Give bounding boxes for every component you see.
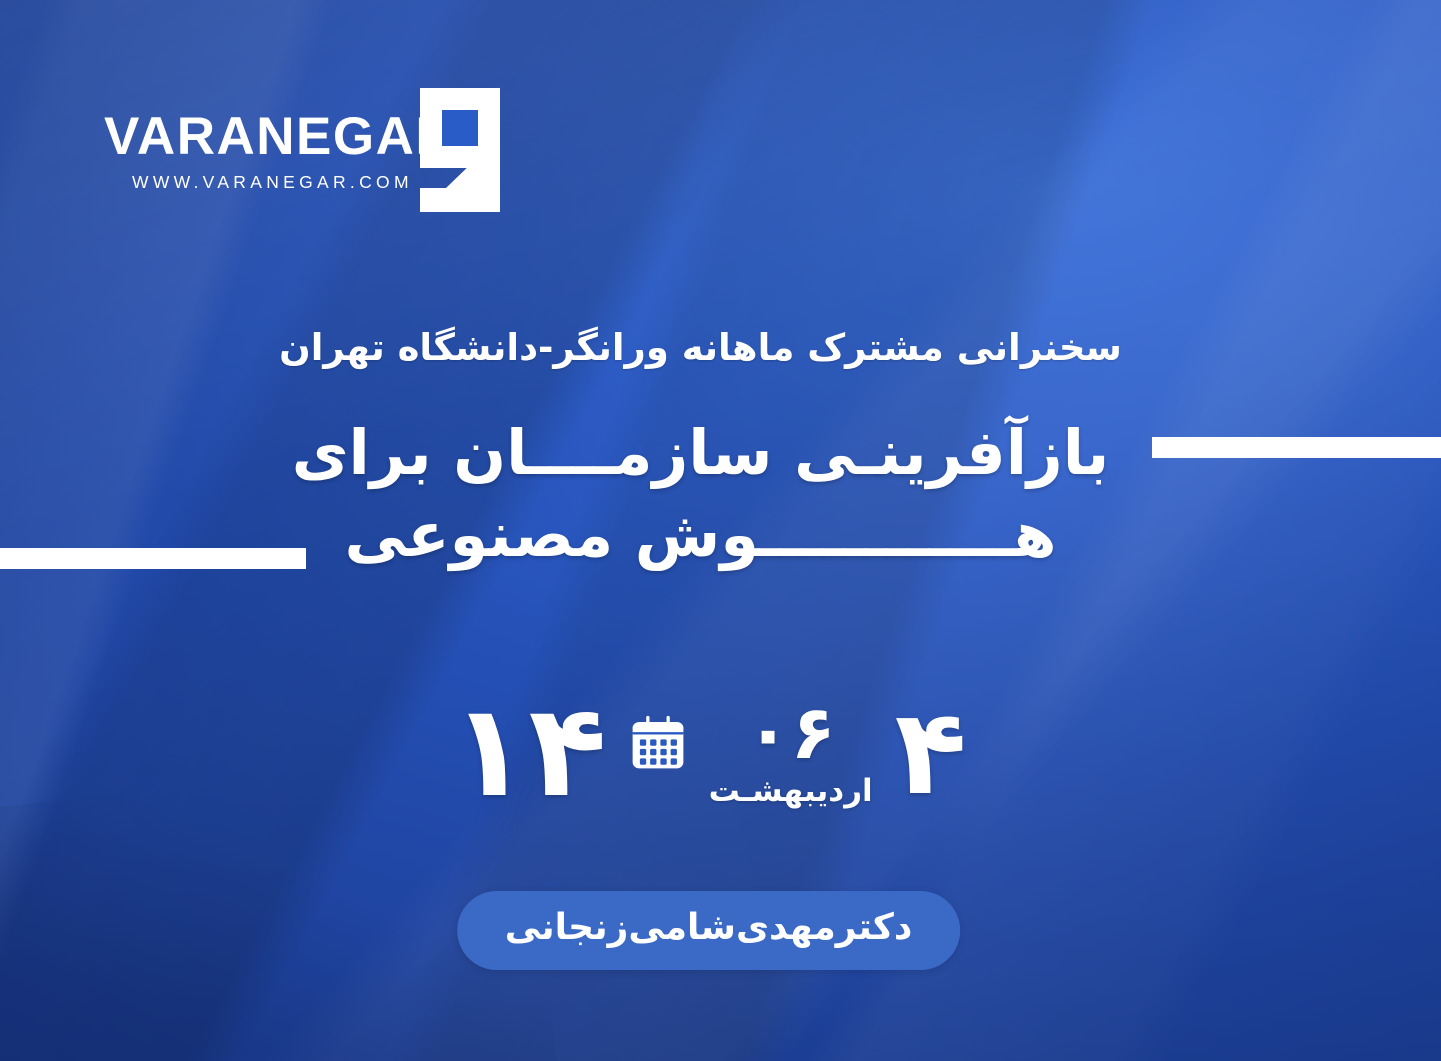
event-date-row: ۴ ۰۶ اردیبهشـت <box>0 672 1441 832</box>
event-time: ۴ <box>895 693 967 811</box>
event-year: ۱۴ <box>450 688 606 816</box>
event-headline: بازآفرینـی سازمــــان برای هــــــــــــ… <box>0 412 1441 576</box>
speaker-badge: دکترمهدی‌شامی‌زنجانی <box>457 891 961 970</box>
calendar-icon <box>629 714 687 772</box>
event-month-name: اردیبهشـت <box>709 774 873 808</box>
headline-line-2: هــــــــــــوش مصنوعی <box>0 494 1401 576</box>
event-poster: VARANEGAR WWW.VARANEGAR.COM سخنرانی مشتر… <box>0 0 1441 1061</box>
event-month-block: ۰۶ اردیبهشـت <box>709 696 873 808</box>
poster-content: سخنرانی مشترک ماهانه ورانگر-دانشگاه تهرا… <box>0 0 1441 1061</box>
event-day: ۰۶ <box>745 696 835 770</box>
event-subtitle: سخنرانی مشترک ماهانه ورانگر-دانشگاه تهرا… <box>0 326 1441 370</box>
headline-line-1: بازآفرینـی سازمــــان برای <box>0 412 1401 494</box>
